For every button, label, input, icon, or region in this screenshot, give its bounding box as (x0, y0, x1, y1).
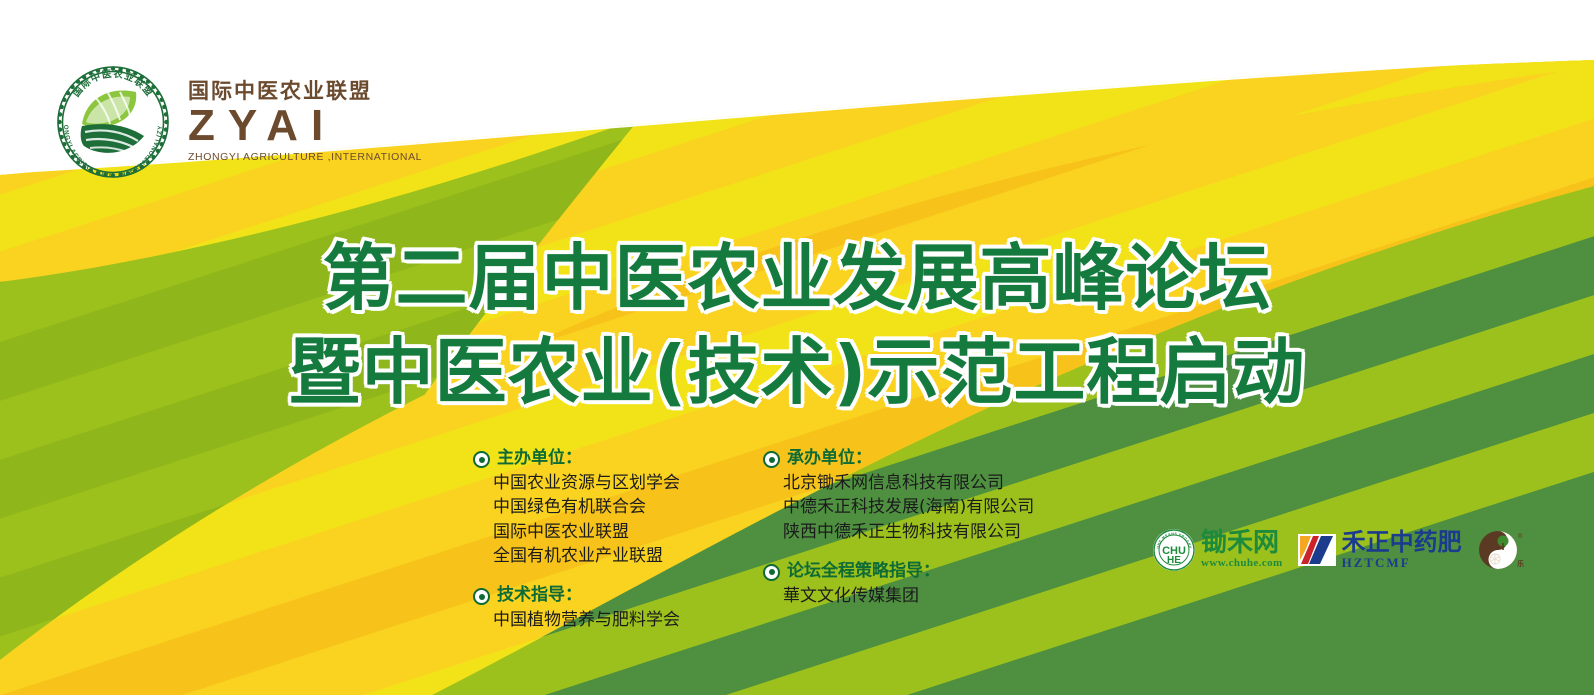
hztcmf-wordmark: 禾正中药肥 HZTCMF (1342, 530, 1462, 570)
organizer-info: 主办单位： 中国农业资源与区划学会 中国绿色有机联合会 国际中医农业联盟 全国有… (473, 447, 1063, 632)
list-item: 北京锄禾网信息科技有限公司 (783, 471, 1063, 495)
zyai-name-en: ZHONGYI AGRICULTURE ,INTERNATIONAL (188, 151, 422, 163)
info-column-left: 主办单位： 中国农业资源与区划学会 中国绿色有机联合会 国际中医农业联盟 全国有… (473, 447, 731, 632)
info-items: 中国植物营养与肥料学会 (493, 608, 731, 632)
bullet-icon (473, 451, 490, 468)
info-group-heading: 论坛全程策略指导： (763, 560, 1063, 583)
svg-text:乐: 乐 (1517, 559, 1524, 568)
zyai-wordmark: 国际中医农业联盟 ZYAI ZHONGYI AGRICULTURE ,INTER… (188, 79, 422, 163)
list-item: 中国农业资源与区划学会 (493, 471, 731, 495)
info-items: 北京锄禾网信息科技有限公司 中德禾正科技发展(海南)有限公司 陕西中德禾正生物科… (783, 471, 1063, 544)
hztcmf-name-cn: 禾正中药肥 (1342, 530, 1462, 554)
chuhe-name-cn: 锄禾网 (1201, 530, 1279, 556)
zyai-name-cn: 国际中医农业联盟 (188, 79, 372, 103)
list-item: 国际中医农业联盟 (493, 520, 731, 544)
yinyang-tree-icon: ® 乐 (1476, 528, 1528, 572)
info-items: 華文文化传媒集团 (783, 584, 1063, 608)
info-group-heading: 承办单位： (763, 447, 1063, 470)
list-item: 中德禾正科技发展(海南)有限公司 (783, 495, 1063, 519)
info-heading-text: 承办单位： (787, 447, 872, 470)
chuhe-url: www.chuhe.com (1201, 557, 1283, 570)
chuhe-wordmark: 锄禾网 www.chuhe.com (1201, 530, 1283, 570)
sponsor-logo-strip: CHU HE CHUHE MEANS PROGRESS 锄禾网 www.chuh… (1152, 528, 1528, 572)
list-item: 全国有机农业产业联盟 (493, 544, 731, 568)
hztcmf-name-en: HZTCMF (1342, 556, 1411, 570)
info-group-host: 主办单位： 中国农业资源与区划学会 中国绿色有机联合会 国际中医农业联盟 全国有… (473, 447, 731, 568)
list-item: 中国绿色有机联合会 (493, 495, 731, 519)
zyai-logo: 国际中医农业联盟 ZHONGYI AGRICULTURE ,INTERNATIO… (52, 62, 422, 180)
info-group-heading: 主办单位： (473, 447, 731, 470)
yinyang-trademark: ® (1518, 533, 1523, 540)
bullet-icon (763, 451, 780, 468)
zyai-abbr: ZYAI (188, 104, 336, 148)
list-item: 中国植物营养与肥料学会 (493, 608, 731, 632)
info-group-technical-guidance: 技术指导： 中国植物营养与肥料学会 (473, 584, 731, 632)
sponsor-logo-yinyang-tree: ® 乐 (1476, 528, 1528, 572)
list-item: 陕西中德禾正生物科技有限公司 (783, 520, 1063, 544)
info-heading-text: 技术指导： (497, 584, 582, 607)
info-group-organizer: 承办单位： 北京锄禾网信息科技有限公司 中德禾正科技发展(海南)有限公司 陕西中… (763, 447, 1063, 544)
poster-root: 国际中医农业联盟 ZHONGYI AGRICULTURE ,INTERNATIO… (0, 0, 1594, 695)
info-items: 中国农业资源与区划学会 中国绿色有机联合会 国际中医农业联盟 全国有机农业产业联… (493, 471, 731, 568)
hztcmf-mark-icon (1297, 530, 1337, 570)
chuhe-seal-icon: CHU HE CHUHE MEANS PROGRESS (1152, 528, 1196, 572)
list-item: 華文文化传媒集团 (783, 584, 1063, 608)
sponsor-logo-hztcmf: 禾正中药肥 HZTCMF (1297, 530, 1462, 570)
info-group-heading: 技术指导： (473, 584, 731, 607)
sponsor-logo-chuhe: CHU HE CHUHE MEANS PROGRESS 锄禾网 www.chuh… (1152, 528, 1283, 572)
info-column-right: 承办单位： 北京锄禾网信息科技有限公司 中德禾正科技发展(海南)有限公司 陕西中… (763, 447, 1063, 632)
svg-text:HE: HE (1167, 555, 1181, 566)
info-heading-text: 主办单位： (497, 447, 582, 470)
info-heading-text: 论坛全程策略指导： (787, 560, 940, 583)
info-group-strategy: 论坛全程策略指导： 華文文化传媒集团 (763, 560, 1063, 608)
bullet-icon (763, 564, 780, 581)
bullet-icon (473, 588, 490, 605)
zyai-seal-icon: 国际中医农业联盟 ZHONGYI AGRICULTURE ,INTERNATIO… (52, 62, 174, 180)
